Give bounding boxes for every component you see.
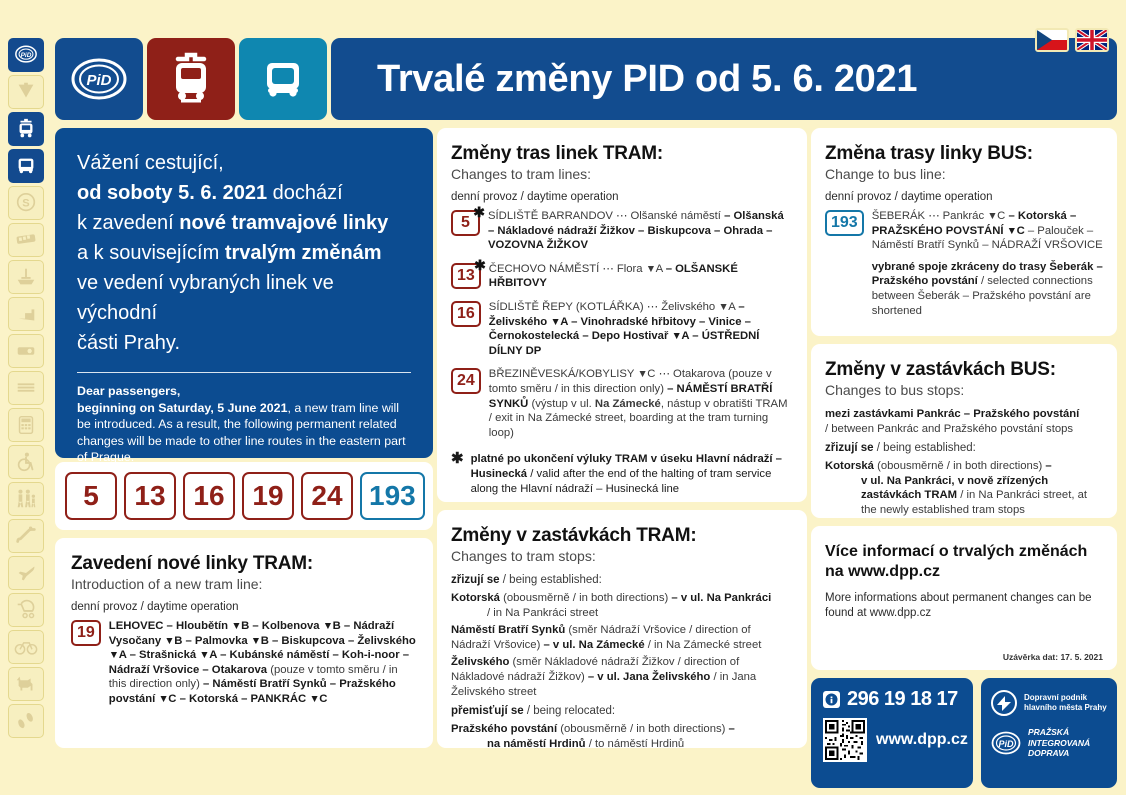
footer-contact-panel: 296 19 18 17 xyxy=(811,678,973,788)
qr-code-icon[interactable] xyxy=(823,718,867,762)
rail-funicular-icon[interactable] xyxy=(8,297,44,331)
intro-line-6: části Prahy. xyxy=(77,328,411,358)
intro-english-text: Dear passengers, beginning on Saturday, … xyxy=(77,383,411,466)
bus-stops-heading-cz: Změny v zastávkách BUS: xyxy=(825,358,1103,381)
bus-stops-established-label: zřizují se / being established: xyxy=(825,441,1103,456)
asterisk-icon: ✱ xyxy=(474,257,486,274)
tram-stops-established-list: Kotorská (obousměrně / in both direction… xyxy=(451,591,793,699)
phone-row: 296 19 18 17 xyxy=(823,688,973,711)
bus-route-text-group: ŠEBERÁK ⋯ Pankrác ▼C – Kotorská – PRAŽSK… xyxy=(872,209,1103,318)
icon-rail: PiDS xyxy=(6,38,46,786)
info-text-en: More informations about permanent change… xyxy=(825,591,1103,621)
tram-stop-established-item: Kotorská (obousměrně / in both direction… xyxy=(451,591,793,620)
bus-icon xyxy=(260,56,306,102)
svg-text:PiD: PiD xyxy=(998,739,1014,749)
badge-wrap: 193 xyxy=(825,209,864,236)
footer-logos-panel: Dopravní podnik hlavního města Prahy PiD… xyxy=(981,678,1117,788)
language-flags[interactable] xyxy=(1035,28,1109,52)
dpp-logo-icon xyxy=(991,690,1017,716)
tram-route-row: 24BŘEZINĚVESKÁ/KOBYLISY ▼C ⋯ Otakarova (… xyxy=(451,367,793,440)
rail-stroller-icon[interactable] xyxy=(8,593,44,627)
new-tram-line-panel: Zavedení nové linky TRAM: Introduction o… xyxy=(55,538,433,748)
info-icon xyxy=(823,691,840,708)
tram-stop-established-item: Želivského (směr Nákladové nádraží Žižko… xyxy=(451,655,793,699)
badge-wrap: 13✱ xyxy=(451,262,481,289)
rail-ferry-icon[interactable] xyxy=(8,260,44,294)
tram-stop-changes-panel: Změny v zastávkách TRAM: Changes to tram… xyxy=(437,510,807,748)
svg-text:S: S xyxy=(22,198,29,210)
tram-stops-heading-cz: Změny v zastávkách TRAM: xyxy=(451,524,793,547)
new-tram-heading-en: Introduction of a new tram line: xyxy=(71,575,417,594)
rail-bicycle-icon[interactable] xyxy=(8,630,44,664)
line-badge-19[interactable]: 19 xyxy=(242,472,294,520)
bus-route-text: ŠEBERÁK ⋯ Pankrác ▼C – Kotorská – PRAŽSK… xyxy=(872,209,1103,253)
bus-stop-changes-panel: Změny v zastávkách BUS: Changes to bus s… xyxy=(811,344,1117,518)
bus-route-heading-en: Change to bus line: xyxy=(825,165,1103,184)
intro-line-4: a k souvisejícím trvalým změnám xyxy=(77,238,411,268)
line-badge-5[interactable]: 5 xyxy=(65,472,117,520)
rail-tram-icon[interactable] xyxy=(8,112,44,146)
info-heading-line2: na www.dpp.cz xyxy=(825,562,1103,582)
flag-cz[interactable] xyxy=(1035,28,1069,52)
intro-czech-text: Vážení cestující, od soboty 5. 6. 2021 d… xyxy=(77,148,411,358)
svg-text:PiD: PiD xyxy=(21,52,32,59)
new-tram-heading-cz: Zavedení nové linky TRAM: xyxy=(71,552,417,575)
intro-en-title: Dear passengers, xyxy=(77,383,411,400)
badge-wrap: 5✱ xyxy=(451,209,480,236)
dpp-logo-line1: Dopravní podnik xyxy=(1024,693,1107,703)
info-heading-cz: Více informací o trvalých změnách na www… xyxy=(825,542,1103,582)
rail-family-icon[interactable] xyxy=(8,482,44,516)
tram-stops-established-label: zřizují se / being established: xyxy=(451,573,793,588)
rail-bus-icon[interactable] xyxy=(8,149,44,183)
line-badge-24[interactable]: 24 xyxy=(451,368,481,394)
asterisk-icon: ✱ xyxy=(473,204,485,221)
poster-header: PiD Trvalé změny PID od 5. 6. 2021 xyxy=(55,38,1117,120)
pid-logo-line3: DOPRAVA xyxy=(1028,748,1090,759)
affected-lines-panel: 513161924193 xyxy=(55,462,433,530)
tram-route-row: 5✱SÍDLIŠTĚ BARRANDOV ⋯ Olšanské náměstí … xyxy=(451,209,793,253)
bus-route-row: 193 ŠEBERÁK ⋯ Pankrác ▼C – Kotorská – PR… xyxy=(825,209,1103,318)
pid-logo-icon: PiD xyxy=(991,731,1021,755)
new-tram-route-text: LEHOVEC – Hloubětín ▼B – Kolbenova ▼B – … xyxy=(109,619,417,707)
pid-logo-text: PRAŽSKÁ INTEGROVANÁ DOPRAVA xyxy=(1028,727,1090,759)
tram-stops-heading-en: Changes to tram stops: xyxy=(451,547,793,566)
qr-row: www.dpp.cz xyxy=(823,718,973,762)
tram-route-row: 13✱ČECHOVO NÁMĚSTÍ ⋯ Flora ▼A – OLŠANSKÉ… xyxy=(451,262,793,291)
badge-wrap: 19 xyxy=(71,619,101,646)
intro-en-body: beginning on Saturday, 5 June 2021, a ne… xyxy=(77,400,411,466)
line-badge-16[interactable]: 16 xyxy=(451,301,481,327)
badge-wrap: 16 xyxy=(451,300,481,327)
line-badge-193[interactable]: 193 xyxy=(825,210,864,236)
tram-routes-footnote-text: platné po ukončení výluky TRAM v úseku H… xyxy=(471,452,793,497)
intro-divider xyxy=(77,372,411,373)
asterisk-icon: ✱ xyxy=(451,452,464,497)
phone-number[interactable]: 296 19 18 17 xyxy=(847,688,958,711)
bus-route-changes-panel: Změna trasy linky BUS: Change to bus lin… xyxy=(811,128,1117,336)
intro-line-1: Vážení cestující, xyxy=(77,148,411,178)
data-deadline: Uzávěrka dat: 17. 5. 2021 xyxy=(1003,652,1103,662)
tram-stop-established-item: Náměstí Bratří Synků (směr Nádraží Vršov… xyxy=(451,623,793,652)
intro-panel: Vážení cestující, od soboty 5. 6. 2021 d… xyxy=(55,128,433,458)
tram-route-text: BŘEZINĚVESKÁ/KOBYLISY ▼C ⋯ Otakarova (po… xyxy=(489,367,793,440)
tram-route-text: ČECHOVO NÁMĚSTÍ ⋯ Flora ▼A – OLŠANSKÉ HŘ… xyxy=(489,262,793,291)
tram-routes-footnote: ✱ platné po ukončení výluky TRAM v úseku… xyxy=(451,452,793,497)
intro-line-3: k zavedení nové tramvajové linky xyxy=(77,208,411,238)
rail-airport-icon[interactable] xyxy=(8,556,44,590)
dpp-logo-text: Dopravní podnik hlavního města Prahy xyxy=(1024,693,1107,713)
bus-stops-established-list: Kotorská (obousměrně / in both direction… xyxy=(825,459,1103,517)
tram-routes-daytime: denní provoz / daytime operation xyxy=(451,191,793,203)
svg-text:PiD: PiD xyxy=(86,72,111,89)
bus-route-heading-cz: Změna trasy linky BUS: xyxy=(825,142,1103,165)
rail-pid-logo-icon[interactable]: PiD xyxy=(8,38,44,72)
bus-route-note: vybrané spoje zkráceny do trasy Šeberák … xyxy=(872,260,1103,318)
tram-route-text: SÍDLIŠTĚ ŘEPY (KOTLÁŘKA) ⋯ Želivského ▼A… xyxy=(489,300,793,358)
pid-logo-line1: PRAŽSKÁ xyxy=(1028,727,1090,738)
new-tram-daytime: denní provoz / daytime operation xyxy=(71,601,417,613)
tram-routes-heading-en: Changes to tram lines: xyxy=(451,165,793,184)
rail-ticket-icon[interactable] xyxy=(8,334,44,368)
flag-en[interactable] xyxy=(1075,28,1109,52)
rail-ticket-machine-icon[interactable] xyxy=(8,408,44,442)
new-tram-route-row: 19 LEHOVEC – Hloubětín ▼B – Kolbenova ▼B… xyxy=(71,619,417,707)
tram-route-row: 16SÍDLIŠTĚ ŘEPY (KOTLÁŘKA) ⋯ Želivského … xyxy=(451,300,793,358)
tram-route-changes-panel: Změny tras linek TRAM: Changes to tram l… xyxy=(437,128,807,502)
info-heading-line1: Více informací o trvalých změnách xyxy=(825,542,1103,562)
line-badge-13[interactable]: 13 xyxy=(124,472,176,520)
rail-dog-icon[interactable] xyxy=(8,667,44,701)
rail-train-icon[interactable] xyxy=(8,223,44,257)
website-url[interactable]: www.dpp.cz xyxy=(876,731,968,749)
bus-stop-established-item: Kotorská (obousměrně / in both direction… xyxy=(825,459,1103,517)
tram-stops-relocated-list: Pražského povstání (obousměrně / in both… xyxy=(451,722,793,751)
rail-timetable-icon[interactable] xyxy=(8,371,44,405)
header-tram-tile xyxy=(147,38,235,120)
intro-line-2: od soboty 5. 6. 2021 dochází xyxy=(77,178,411,208)
tram-stop-relocated-item: Pražského povstání (obousměrně / in both… xyxy=(451,722,793,751)
line-badge-24[interactable]: 24 xyxy=(301,472,353,520)
pid-logo-icon: PiD xyxy=(70,57,128,101)
dpp-logo-row: Dopravní podnik hlavního města Prahy xyxy=(991,690,1117,716)
tram-routes-heading-cz: Změny tras linek TRAM: xyxy=(451,142,793,165)
rail-s-train-icon[interactable]: S xyxy=(8,186,44,220)
tram-icon xyxy=(168,51,214,107)
line-badge-16[interactable]: 16 xyxy=(183,472,235,520)
tram-route-text: SÍDLIŠTĚ BARRANDOV ⋯ Olšanské náměstí – … xyxy=(488,209,793,253)
pid-logo-row: PiD PRAŽSKÁ INTEGROVANÁ DOPRAVA xyxy=(991,727,1117,759)
rail-wheelchair-icon[interactable] xyxy=(8,445,44,479)
header-bus-tile xyxy=(239,38,327,120)
rail-footpath-icon[interactable] xyxy=(8,704,44,738)
page-title: Trvalé změny PID od 5. 6. 2021 xyxy=(377,58,917,101)
line-badge-19[interactable]: 19 xyxy=(71,620,101,646)
header-pid-logo-tile: PiD xyxy=(55,38,143,120)
bus-stops-between-text: mezi zastávkami Pankrác – Pražského povs… xyxy=(825,407,1103,436)
tram-route-list: 5✱SÍDLIŠTĚ BARRANDOV ⋯ Olšanské náměstí … xyxy=(451,209,793,440)
title-bar: Trvalé změny PID od 5. 6. 2021 xyxy=(331,38,1117,120)
rail-escalator-icon[interactable] xyxy=(8,519,44,553)
dpp-logo-line2: hlavního města Prahy xyxy=(1024,703,1107,713)
badge-wrap: 24 xyxy=(451,367,481,394)
more-info-panel: Více informací o trvalých změnách na www… xyxy=(811,526,1117,670)
line-badge-193[interactable]: 193 xyxy=(360,472,425,520)
pid-logo-line2: INTEGROVANÁ xyxy=(1028,738,1090,749)
bus-stops-heading-en: Changes to bus stops: xyxy=(825,381,1103,400)
rail-metro-icon[interactable] xyxy=(8,75,44,109)
intro-line-5: ve vedení vybraných linek ve východní xyxy=(77,268,411,328)
tram-stops-relocated-label: přemisťují se / being relocated: xyxy=(451,704,793,719)
bus-route-daytime: denní provoz / daytime operation xyxy=(825,191,1103,203)
